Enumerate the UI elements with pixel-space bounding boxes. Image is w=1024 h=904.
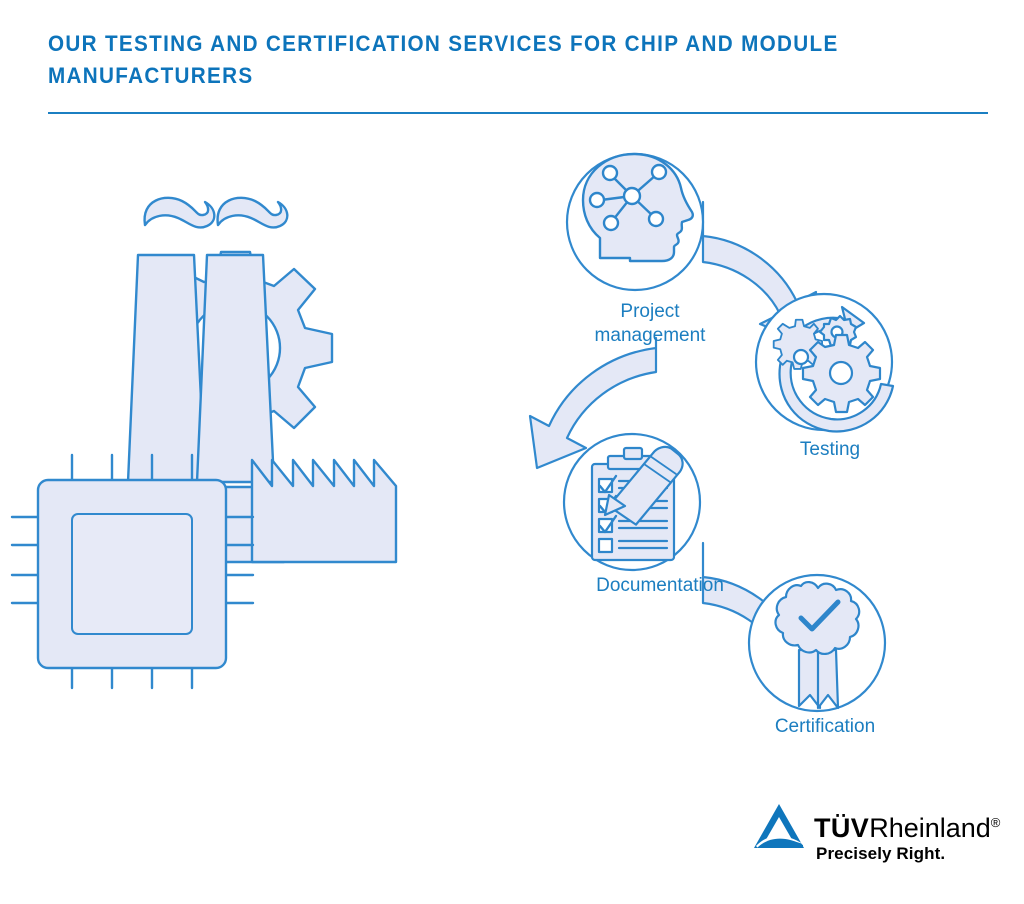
chip-die	[72, 514, 192, 634]
label-testing: Testing	[715, 438, 945, 462]
gear-large	[803, 335, 880, 412]
flow-step-project-management	[567, 154, 703, 290]
label-certification: Certification	[705, 715, 945, 739]
header: OUR TESTING AND CERTIFICATION SERVICES F…	[48, 28, 988, 92]
left-illustration-svg	[0, 130, 500, 730]
smokestack-right	[197, 255, 274, 482]
left-illustration-panel	[0, 130, 500, 730]
registered-trademark-icon: ®	[991, 815, 1001, 830]
microchip-illustration	[12, 455, 253, 688]
tuv-rheinland-triangle-mark	[752, 802, 806, 852]
flow-step-testing	[756, 294, 893, 432]
page-title: OUR TESTING AND CERTIFICATION SERVICES F…	[48, 28, 932, 92]
process-flow-panel: Project management Testing Documentation…	[500, 130, 1024, 770]
smoke-puff-left	[145, 198, 215, 228]
flow-step-documentation	[564, 434, 700, 570]
infographic-page: OUR TESTING AND CERTIFICATION SERVICES F…	[0, 0, 1024, 904]
label-project-management: Project management	[535, 300, 765, 348]
logo-tagline: Precisely Right.	[816, 844, 945, 864]
header-divider	[48, 112, 988, 114]
label-documentation: Documentation	[515, 574, 805, 598]
logo-brand-regular: Rheinland	[869, 813, 991, 843]
tuv-rheinland-logo: TÜVRheinland® Precisely Right.	[752, 800, 984, 872]
logo-wordmark: TÜVRheinland®	[814, 808, 1000, 843]
smoke-puff-right	[218, 198, 288, 228]
smokestack-left	[128, 255, 205, 482]
logo-brand-bold: TÜV	[814, 813, 869, 843]
factory-building-sawtooth-roof	[252, 460, 396, 562]
